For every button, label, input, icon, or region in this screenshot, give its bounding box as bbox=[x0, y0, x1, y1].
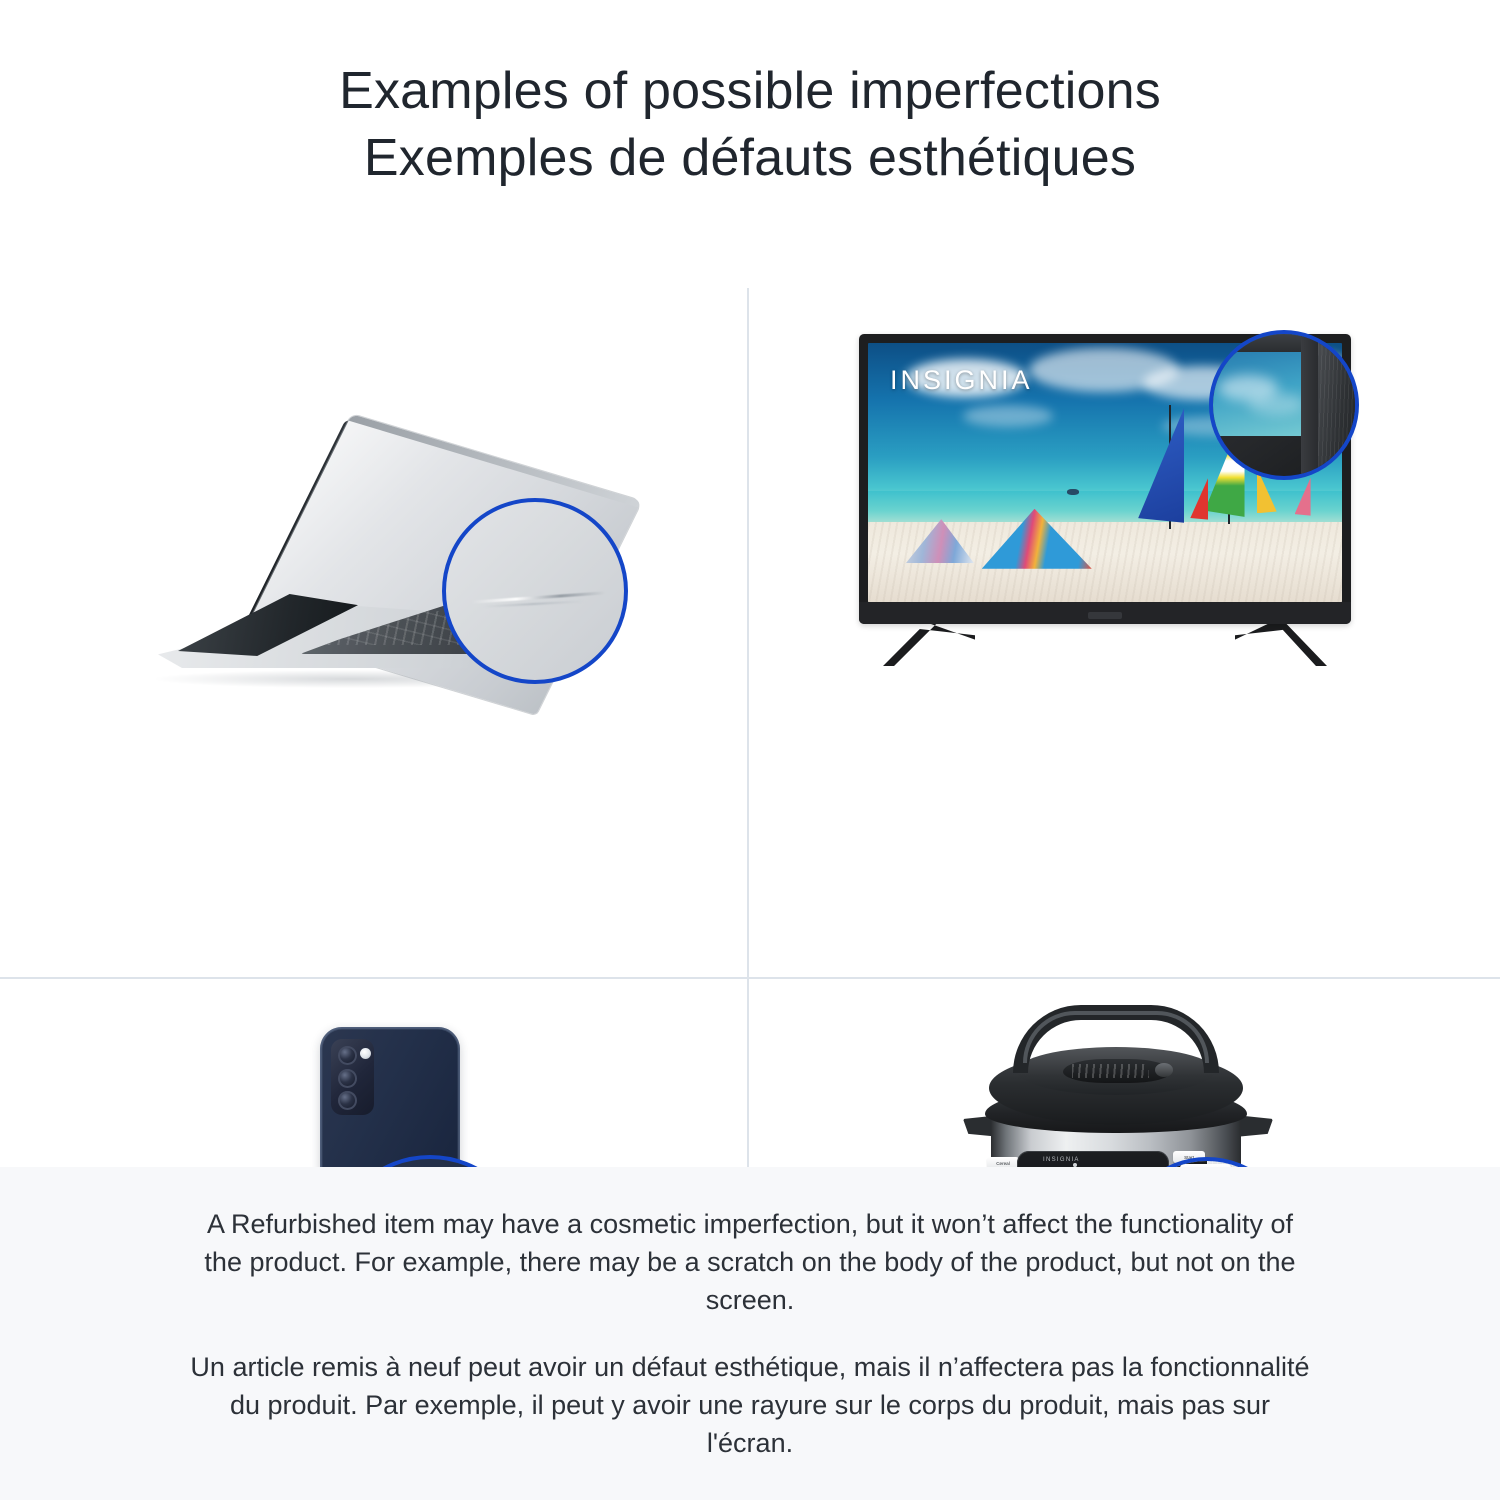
page-title-en: Examples of possible imperfections bbox=[339, 61, 1161, 122]
laptop-lid-edge bbox=[349, 414, 642, 508]
footer-disclaimer: A Refurbished item may have a cosmetic i… bbox=[0, 1167, 1500, 1500]
tv-illustration: INSIGNIA bbox=[749, 288, 1500, 977]
tv-magnified-bezel-corner bbox=[1318, 334, 1355, 476]
phone-camera-lens-2-icon bbox=[338, 1069, 357, 1088]
tv-magnified-bezel-vertical bbox=[1301, 334, 1318, 476]
tv-ir-sensor-icon bbox=[1088, 612, 1122, 619]
tv-brand-logo: INSIGNIA bbox=[890, 365, 1033, 396]
page-title-fr: Exemples de défauts esthétiques bbox=[364, 128, 1136, 189]
page-title: Examples of possible imperfections Exemp… bbox=[0, 0, 1500, 250]
disclaimer-en: A Refurbished item may have a cosmetic i… bbox=[185, 1205, 1315, 1320]
product-grid: INSIGNIA bbox=[0, 250, 1500, 1167]
phone-camera-module bbox=[331, 1039, 374, 1115]
tv-chin bbox=[859, 602, 1351, 624]
product-cell-tv: INSIGNIA bbox=[749, 288, 1500, 977]
phone-camera-flash-icon bbox=[360, 1048, 371, 1059]
laptop-illustration bbox=[0, 288, 747, 977]
disclaimer-fr: Un article remis à neuf peut avoir un dé… bbox=[185, 1348, 1315, 1463]
phone-camera-lens-1-icon bbox=[338, 1046, 357, 1065]
cooker-carry-handle-highlight bbox=[1023, 1011, 1209, 1063]
product-cell-laptop bbox=[0, 288, 747, 977]
tv-magnifier-circle bbox=[1209, 330, 1359, 480]
phone-camera-lens-3-icon bbox=[338, 1091, 357, 1110]
laptop-magnifier-circle bbox=[442, 498, 628, 684]
tv-leg-right bbox=[1235, 622, 1327, 666]
tv-leg-left bbox=[883, 622, 975, 666]
